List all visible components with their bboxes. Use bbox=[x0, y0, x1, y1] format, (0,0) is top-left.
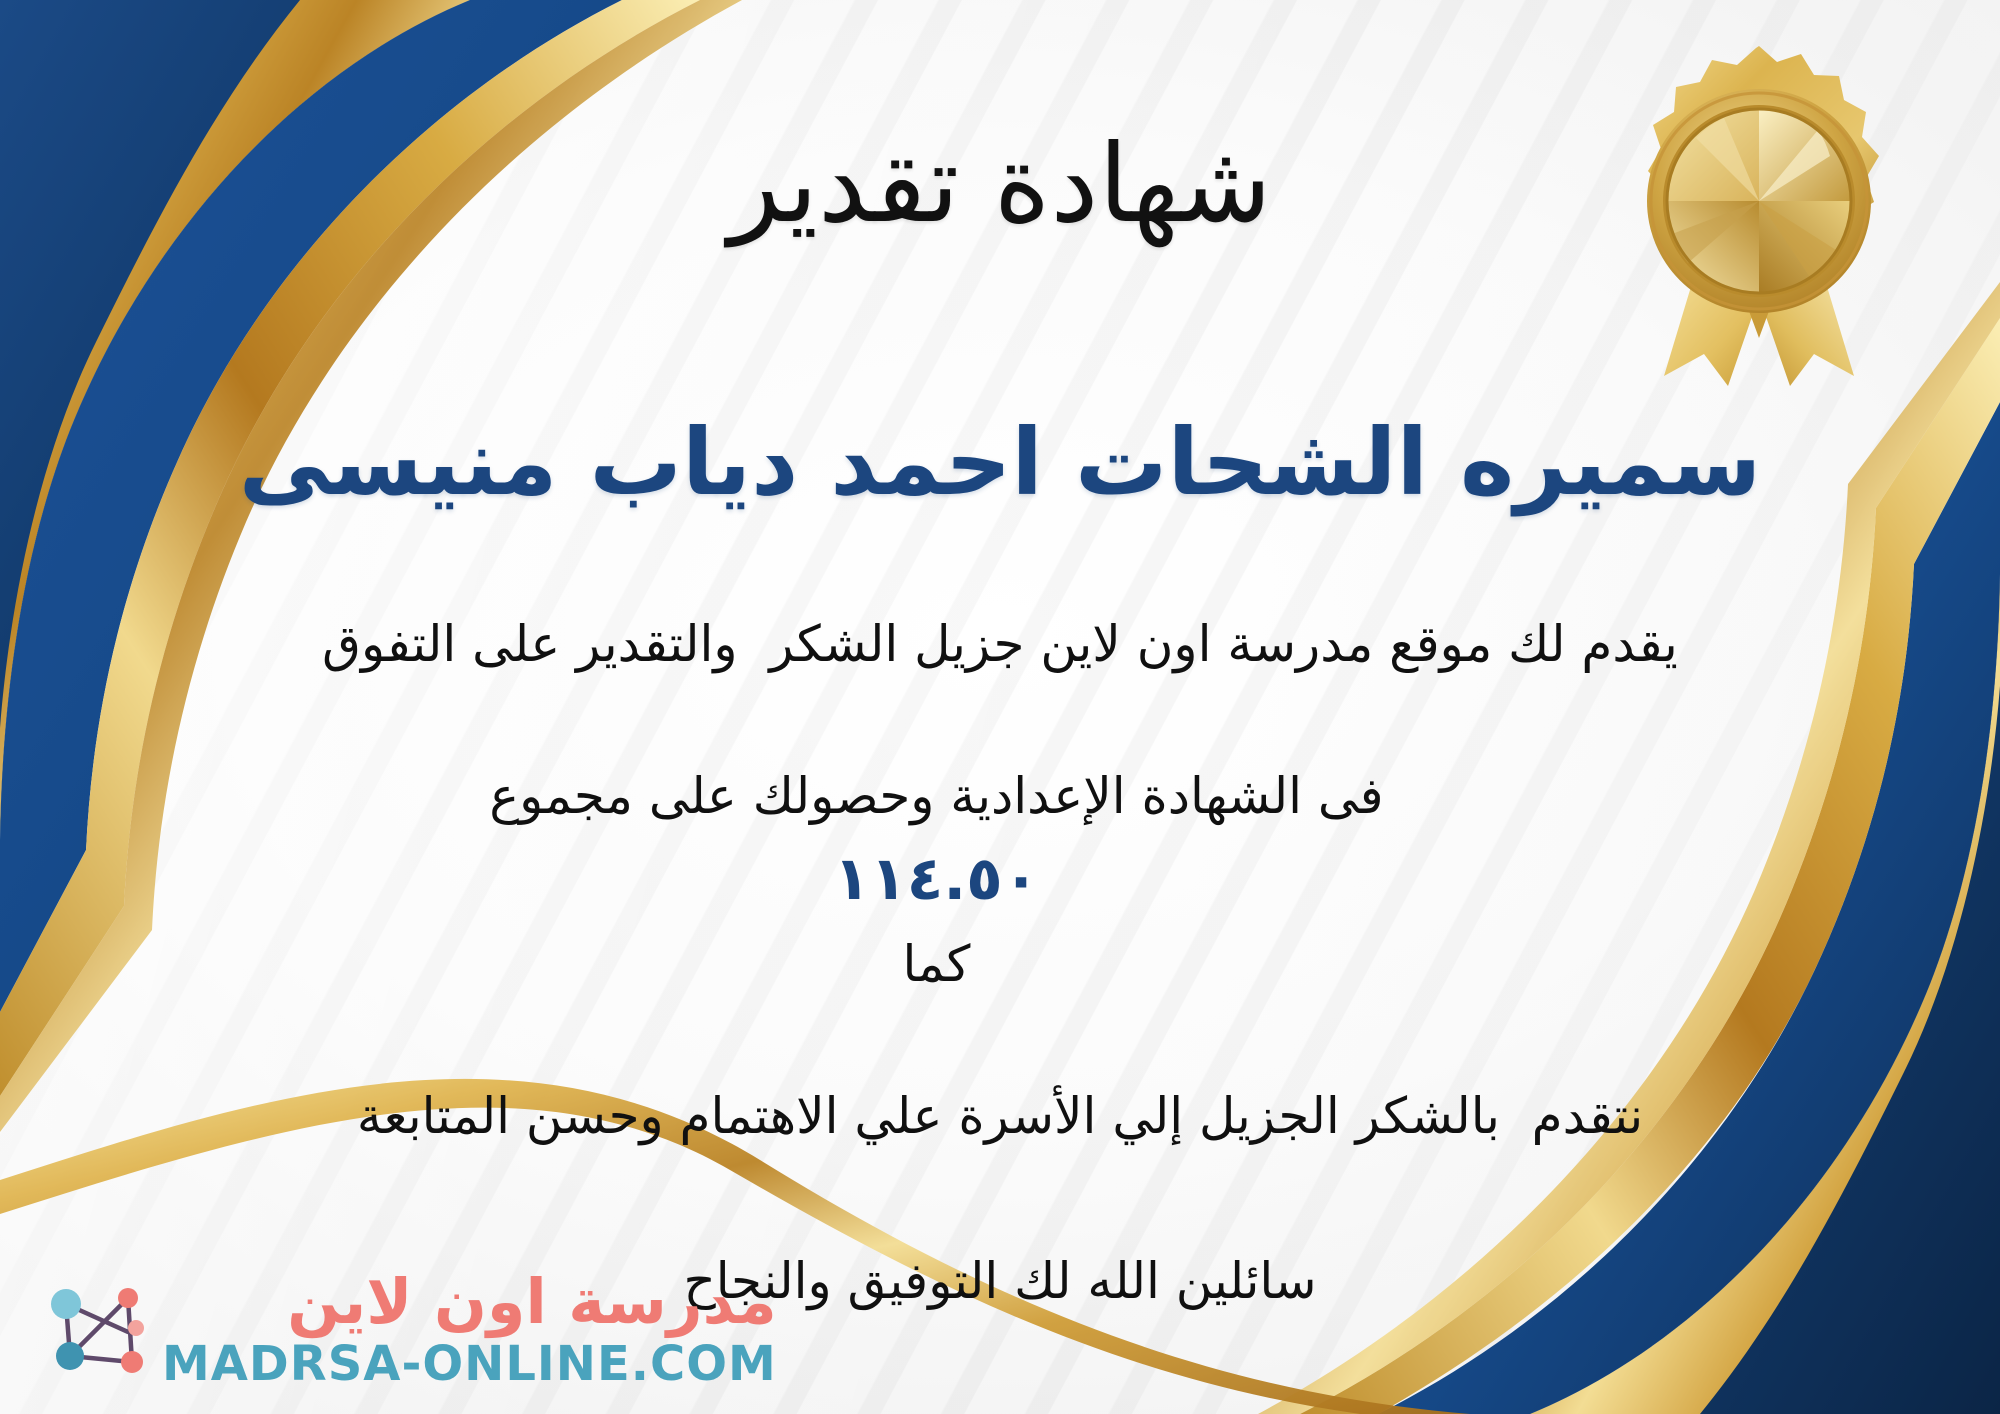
certificate-page: شهادة تقدير سميره الشحات احمد دياب منيسى… bbox=[0, 0, 2000, 1414]
page-title: شهادة تقدير bbox=[728, 128, 1271, 241]
certificate-body: يقدم لك موقع مدرسة اون لاين جزيل الشكر و… bbox=[110, 606, 1890, 1153]
body-line-1: يقدم لك موقع مدرسة اون لاين جزيل الشكر و… bbox=[110, 606, 1890, 682]
body-line-3: نتقدم بالشكر الجزيل إلي الأسرة علي الاهت… bbox=[110, 1078, 1890, 1154]
certificate-content: شهادة تقدير سميره الشحات احمد دياب منيسى… bbox=[0, 0, 2000, 1414]
body-line-2-prefix: فى الشهادة الإعدادية وحصولك على مجموع bbox=[489, 767, 1383, 825]
logo-text-block: مدرسة اون لاين MADRSA-ONLINE.COM bbox=[162, 1271, 777, 1389]
closing-wish: سائلين الله لك التوفيق والنجاح bbox=[683, 1246, 1316, 1316]
body-line-2: فى الشهادة الإعدادية وحصولك على مجموع ١١… bbox=[110, 682, 1890, 1077]
logo-arabic-name: مدرسة اون لاين bbox=[287, 1271, 777, 1333]
total-score-value: ١١٤.٥٠ bbox=[833, 844, 1039, 914]
body-line-2-suffix: كما bbox=[902, 935, 970, 993]
network-nodes-icon bbox=[36, 1270, 156, 1390]
logo-website-url: MADRSA-ONLINE.COM bbox=[162, 1339, 777, 1389]
site-logo[interactable]: مدرسة اون لاين MADRSA-ONLINE.COM bbox=[36, 1270, 777, 1390]
recipient-name: سميره الشحات احمد دياب منيسى bbox=[239, 411, 1762, 514]
